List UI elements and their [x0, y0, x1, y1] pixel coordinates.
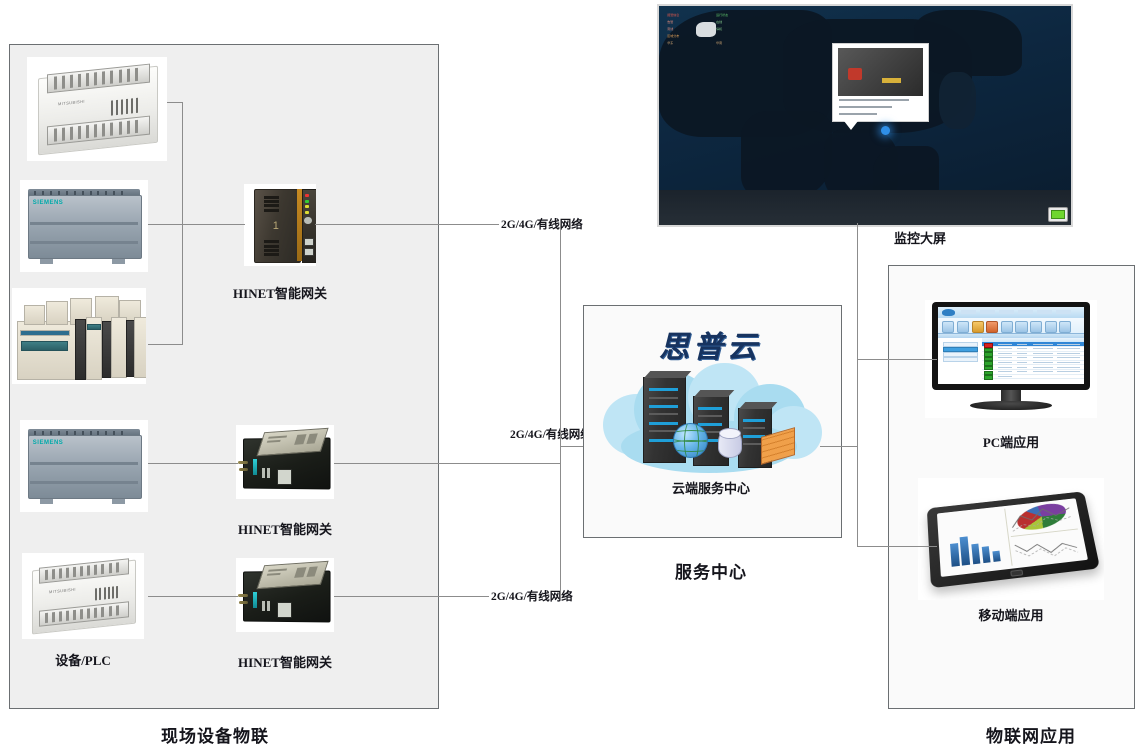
cloud-service-caption: 云端服务中心 — [636, 478, 786, 497]
legend-status-item-0: 在线 — [716, 20, 722, 24]
wire-cloud-right — [820, 446, 858, 447]
device-popup-card — [832, 43, 929, 122]
wire-bus-to-gateway1 — [148, 224, 245, 225]
wire-plc5-to-gateway3 — [148, 596, 238, 597]
popup-line-2 — [839, 106, 892, 108]
wire-plc3-to-bus — [148, 344, 183, 345]
gateway-label-2: HINET智能网关 — [210, 519, 360, 538]
device-siemens-plc-lower: SIEMENS — [20, 420, 148, 512]
legend-region-title: 区域分布 — [667, 34, 679, 38]
device-siemens-plc-upper: SIEMENS — [20, 180, 148, 272]
legend-region-item-0: 华东 — [667, 41, 673, 45]
popup-line-3 — [839, 113, 877, 115]
pc-application-monitor — [925, 300, 1097, 418]
gateway-device-2 — [236, 425, 334, 499]
gateway-label-3: HINET智能网关 — [210, 652, 360, 671]
pc-application-label: PC端应用 — [951, 432, 1071, 451]
zone-label-service: 服务中心 — [636, 558, 786, 583]
popup-line-1 — [839, 99, 909, 101]
device-plc-caption: 设备/PLC — [22, 650, 144, 669]
net-stub-bottom — [462, 596, 490, 597]
net-stub-top — [472, 224, 500, 225]
net-trunk-vertical — [560, 224, 561, 596]
legend-alarm-item-1: 离线 — [667, 27, 673, 31]
mobile-application-label: 移动端应用 — [951, 605, 1071, 624]
wire-plc4-to-gateway2 — [148, 463, 238, 464]
plc-brand-text: SIEMENS — [33, 440, 64, 446]
monitor-wall-label: 监控大屏 — [860, 228, 980, 247]
legend-alarm-title: 报警信息 — [667, 13, 679, 17]
wire-plc1-to-bus — [167, 102, 183, 103]
plc-brand-text: SIEMENS — [33, 200, 64, 206]
status-led-badge — [1048, 207, 1068, 222]
wall-legend: 报警信息 告警 离线 运行状态 在线 停机 区域分布 华东 华南 — [667, 13, 778, 48]
device-rack-plc-cluster — [12, 288, 146, 384]
gateway-device-1: 1 — [244, 184, 316, 266]
wire-to-mobile-app — [857, 546, 937, 547]
legend-region-item-1: 华南 — [716, 41, 722, 45]
monitoring-wall-screen[interactable]: 报警信息 告警 离线 运行状态 在线 停机 区域分布 华东 华南 — [657, 4, 1073, 227]
wire-gateway3-to-net — [334, 596, 464, 597]
legend-status-item-1: 停机 — [716, 27, 722, 31]
legend-alarm-item-0: 告警 — [667, 20, 673, 24]
zone-label-apps: 物联网应用 — [951, 722, 1111, 747]
zone-label-field: 现场设备物联 — [115, 722, 315, 747]
cloud-servers-illustration — [598, 358, 824, 478]
device-mitsubishi-plc-top: MITSUBISHI — [27, 57, 167, 161]
network-label-top: 2G/4G/有线网络 — [499, 216, 585, 232]
wire-bus-vertical — [182, 102, 183, 344]
database-icon — [718, 428, 743, 459]
wire-gateway2-to-net — [334, 463, 560, 464]
legend-status-title: 运行状态 — [716, 13, 728, 17]
wire-to-pc-app — [857, 359, 937, 360]
network-label-middle: 2G/4G/有线网络 — [508, 426, 594, 442]
network-label-bottom: 2G/4G/有线网络 — [489, 588, 575, 604]
gateway-device-3 — [236, 558, 334, 632]
wire-apps-riser — [857, 359, 858, 546]
device-mitsubishi-plc-bottom: MITSUBISHI — [22, 553, 144, 639]
mobile-application-tablet — [918, 478, 1104, 600]
gateway-label-1: HINET智能网关 — [205, 283, 355, 302]
